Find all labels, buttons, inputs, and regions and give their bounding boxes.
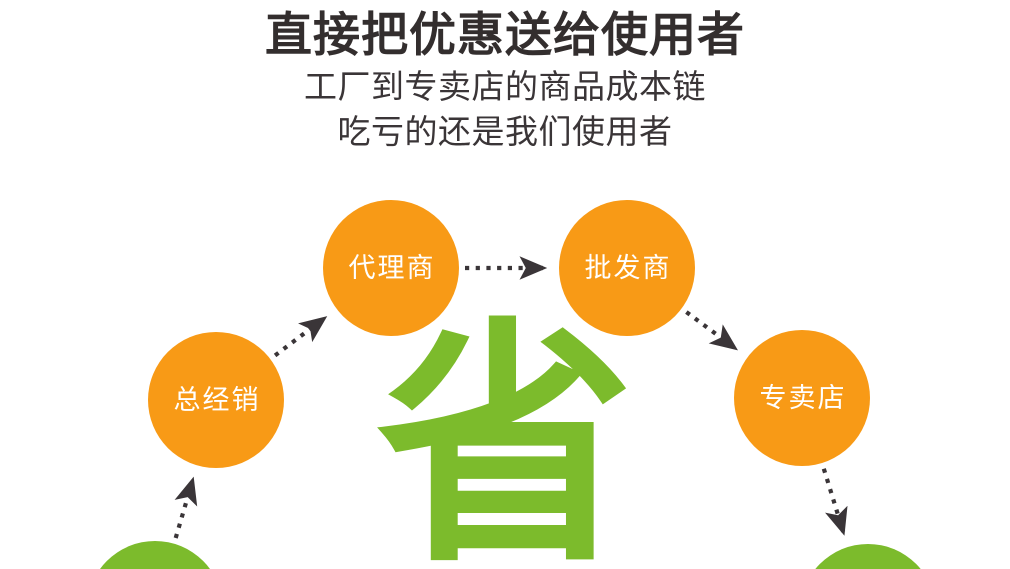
node-consumer[interactable] <box>800 544 936 569</box>
subtitle-line-2: 吃亏的还是我们使用者 <box>0 109 1010 155</box>
node-label: 总经销 <box>172 387 261 414</box>
heading-block: 直接把优惠送给使用者 工厂到专卖店的商品成本链 吃亏的还是我们使用者 <box>0 0 1010 155</box>
node-agent[interactable]: 代理商 <box>323 200 459 336</box>
connector-node-distributor-to-node-agent <box>275 319 324 356</box>
node-distributor[interactable]: 总经销 <box>148 332 284 468</box>
node-wholesaler[interactable]: 批发商 <box>559 200 695 336</box>
node-label: 批发商 <box>583 255 672 282</box>
node-origin[interactable] <box>87 541 223 569</box>
node-store[interactable]: 专卖店 <box>734 330 870 466</box>
connector-node-wholesaler-to-node-store <box>686 312 734 348</box>
node-label: 专卖店 <box>758 385 847 412</box>
subtitle-line-1: 工厂到专卖店的商品成本链 <box>0 64 1010 109</box>
page-title: 直接把优惠送给使用者 <box>0 0 1010 64</box>
connector-node-store-to-node-consumer <box>824 469 843 532</box>
connector-node-origin-to-node-distributor <box>176 481 193 538</box>
watermark-character: 省 <box>375 318 635 569</box>
infographic-canvas: 直接把优惠送给使用者 工厂到专卖店的商品成本链 吃亏的还是我们使用者 省 总经销… <box>0 0 1010 569</box>
node-label: 代理商 <box>347 255 436 282</box>
